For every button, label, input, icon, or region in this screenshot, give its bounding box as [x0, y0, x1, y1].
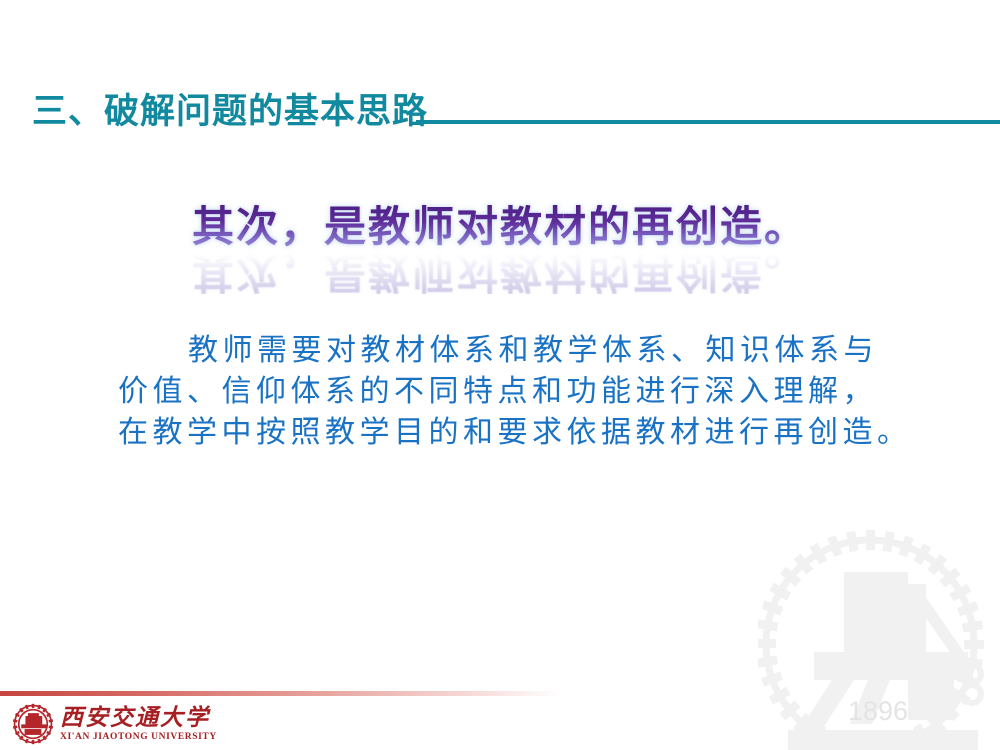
title-underline-rule [416, 120, 1000, 124]
page-title: 三、破解问题的基本思路 [0, 95, 428, 130]
xjtu-watermark-emblem: 1896 [758, 524, 1000, 750]
watermark-year: 1896 [848, 696, 908, 726]
footer-divider-rule [0, 691, 560, 696]
body-paragraph: 教师需要对教材体系和教学体系、知识体系与 价值、信仰体系的不同特点和功能进行深入… [118, 330, 918, 453]
body-line: 价值、信仰体系的不同特点和功能进行深入理解， [118, 371, 918, 412]
slide-title-row: 三、破解问题的基本思路 [0, 74, 1000, 130]
wordart-heading-reflection: 其次，是教师对教材的再创造。 [192, 250, 808, 294]
logo-name-cn: 西安交通大学 [60, 705, 217, 731]
logo-text-block: 西安交通大学 XI'AN JIAOTONG UNIVERSITY [60, 705, 217, 743]
xjtu-emblem-icon [12, 703, 54, 745]
wordart-heading: 其次，是教师对教材的再创造。 [192, 205, 808, 249]
wordart-heading-block: 其次，是教师对教材的再创造。 其次，是教师对教材的再创造。 [0, 205, 1000, 310]
body-line: 在教学中按照教学目的和要求依据教材进行再创造。 [118, 412, 918, 453]
university-logo: 西安交通大学 XI'AN JIAOTONG UNIVERSITY [12, 702, 217, 746]
body-line: 教师需要对教材体系和教学体系、知识体系与 [118, 330, 918, 371]
presentation-slide: 1896 三、破解问题的基本思路 其次，是教师对教材的再创造。 其次，是教师对教… [0, 0, 1000, 750]
logo-name-en: XI'AN JIAOTONG UNIVERSITY [60, 731, 217, 743]
